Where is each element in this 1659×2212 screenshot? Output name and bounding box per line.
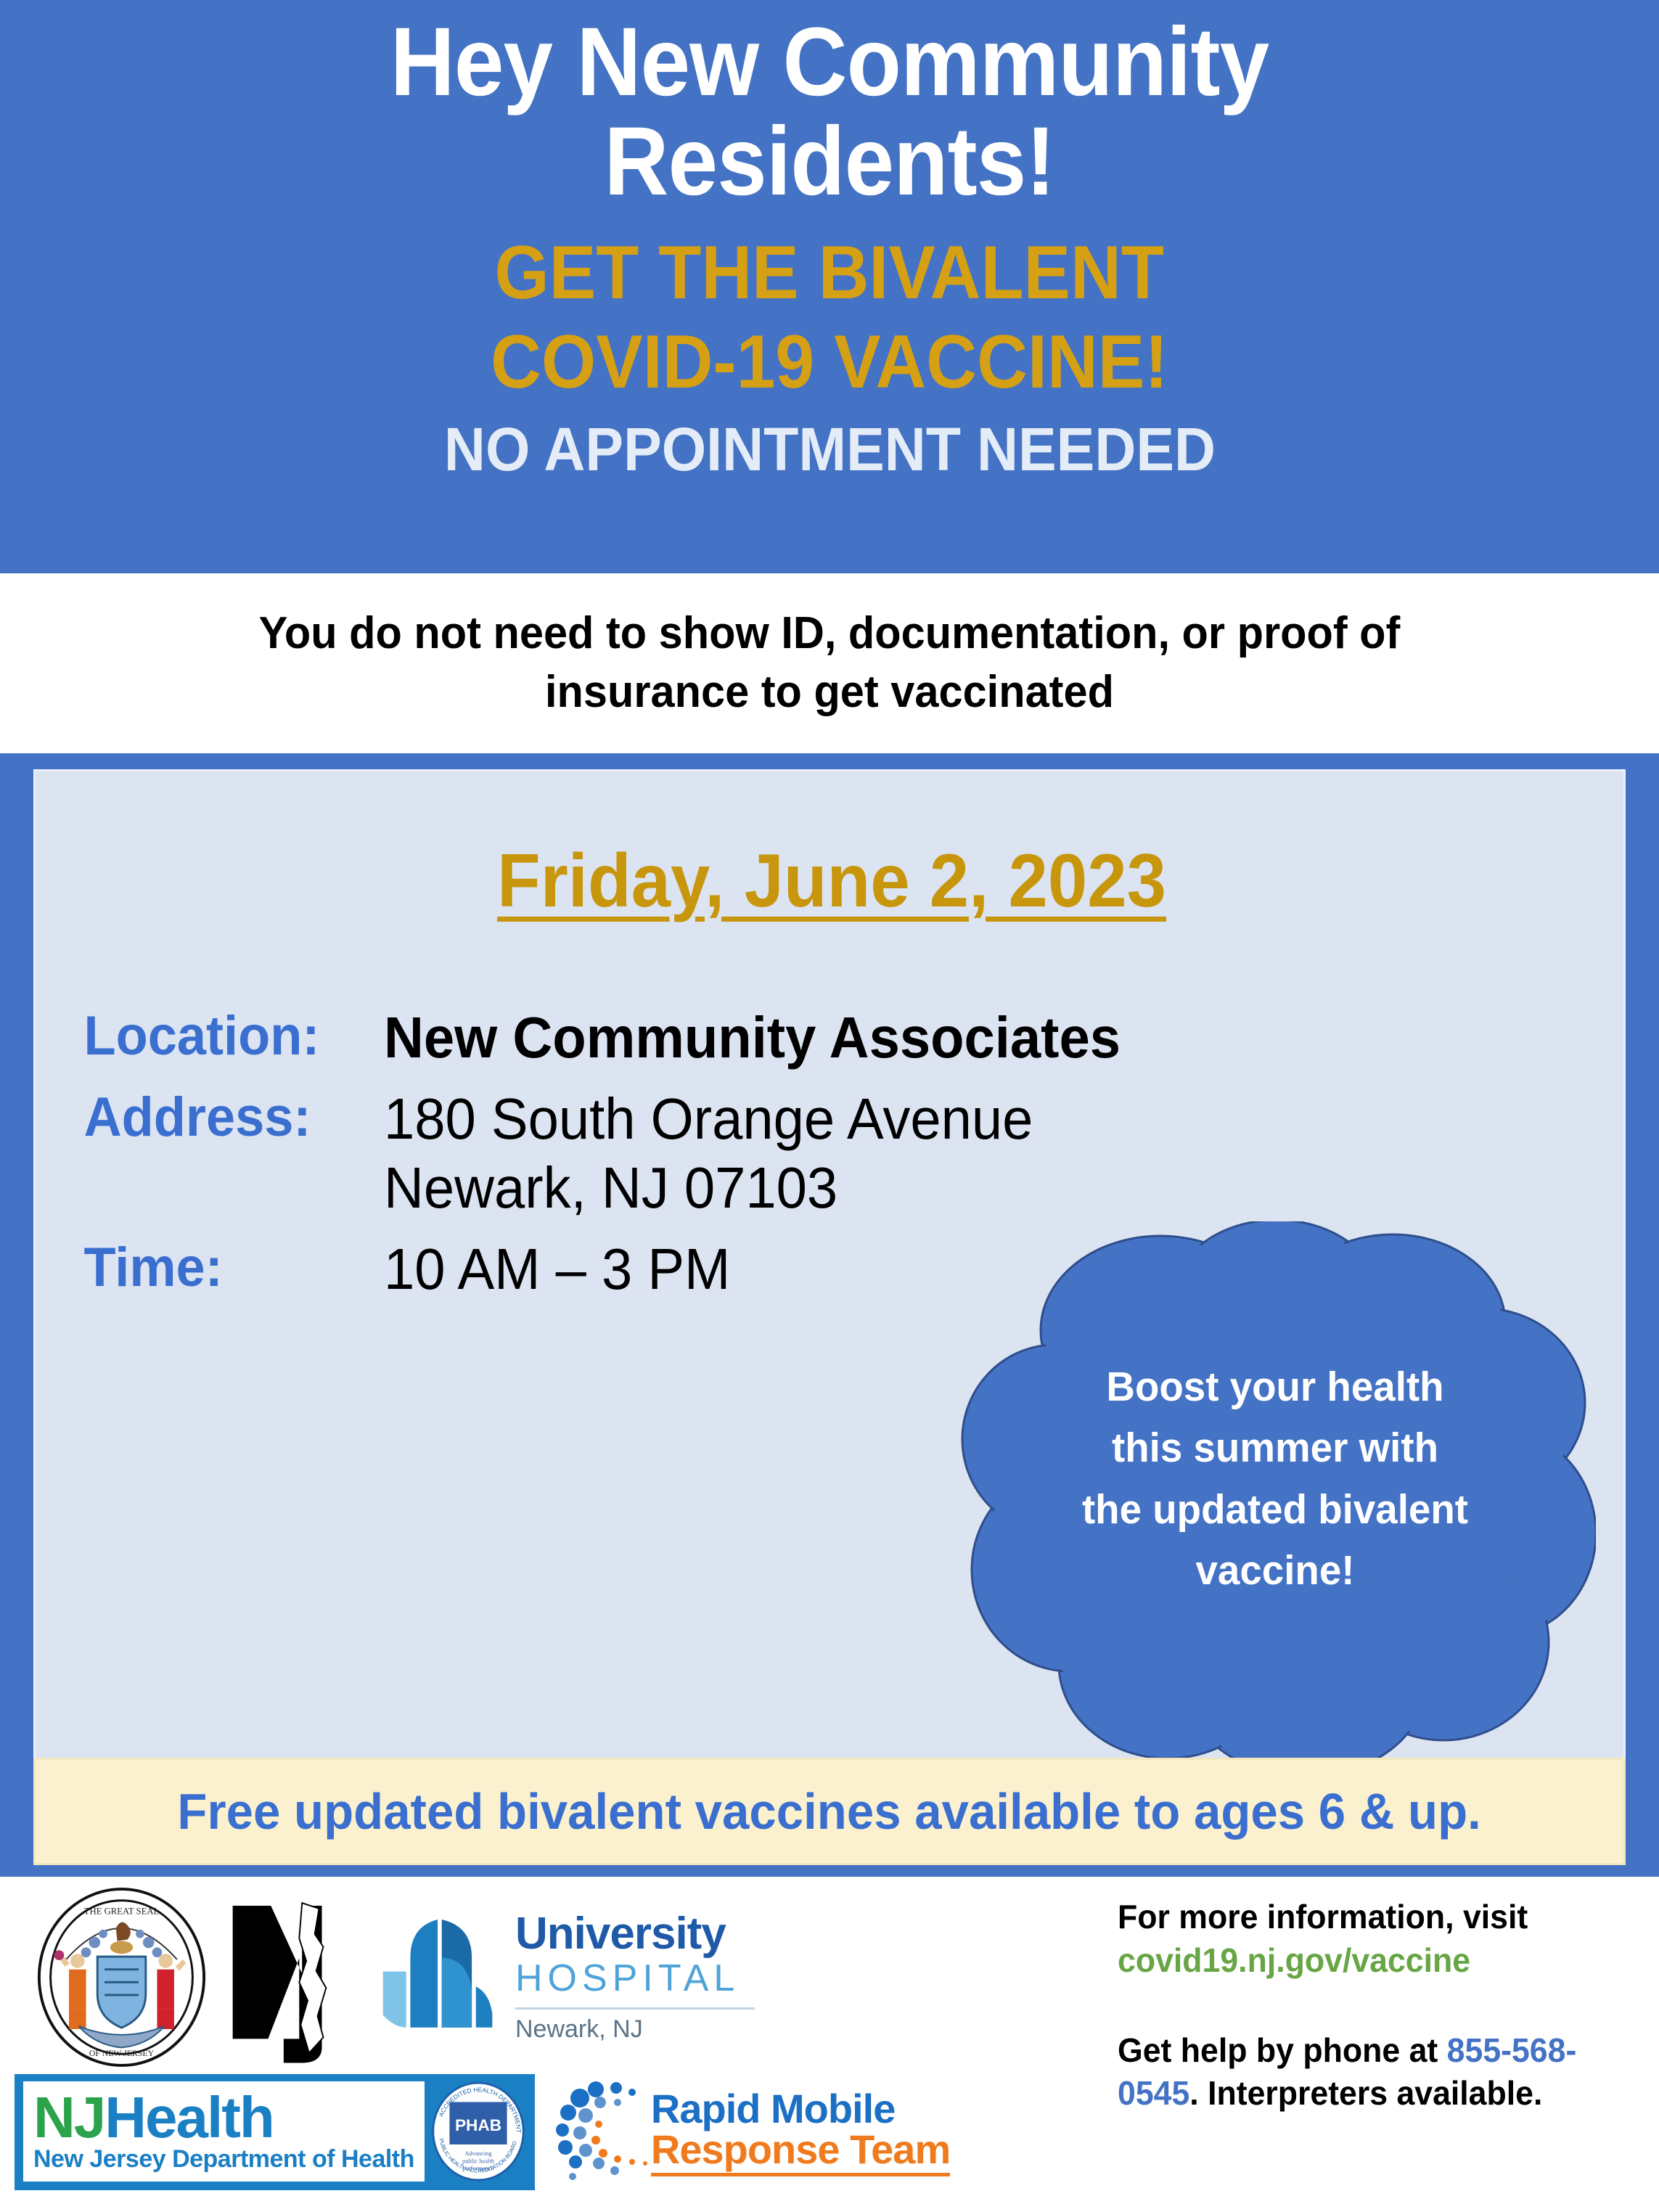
nj-health-logo: NJHealth New Jersey Department of Health… [15, 2074, 535, 2190]
uh-type: HOSPITAL [515, 1957, 755, 2001]
footer: THE GREAT SEAL OF NEW JERSEY [0, 1877, 1659, 2212]
event-date: Friday, June 2, 2023 [83, 838, 1580, 925]
contact-website-block: For more information, visit covid19.nj.g… [1118, 1896, 1626, 1983]
university-hospital-wordmark: University HOSPITAL Newark, NJ [515, 1912, 755, 2043]
subhead-gold-line-2: COVID-19 VACCINE! [491, 318, 1168, 407]
university-hospital-logo: University HOSPITAL Newark, NJ [380, 1912, 755, 2043]
detail-value-time: 10 AM – 3 PM [384, 1235, 730, 1303]
svg-text:OF NEW JERSEY: OF NEW JERSEY [89, 2049, 155, 2058]
contact-website-url[interactable]: covid19.nj.gov/vaccine [1118, 1939, 1610, 1983]
notice-text: You do not need to show ID, documentatio… [168, 605, 1491, 721]
svg-text:public health: public health [462, 2157, 495, 2164]
contact-phone-suffix: . Interpreters available. [1189, 2074, 1542, 2112]
contact-info: For more information, visit covid19.nj.g… [1118, 1896, 1626, 2162]
nj-health-wordmark-box: NJHealth New Jersey Department of Health [23, 2081, 425, 2182]
subhead-gold-line-1: GET THE BIVALENT [491, 229, 1168, 318]
notice-banner: You do not need to show ID, documentatio… [0, 573, 1659, 753]
detail-row-address: Address: 180 South Orange Avenue Newark,… [36, 1085, 1628, 1222]
detail-row-location: Location: New Community Associates [36, 1004, 1628, 1072]
detail-value-address: 180 South Orange Avenue Newark, NJ 07103 [384, 1085, 1033, 1222]
nj-state-seal-icon: THE GREAT SEAL OF NEW JERSEY [36, 1887, 207, 2068]
rmrt-line-2: Response Team [651, 2129, 950, 2176]
nj-health-subtitle: New Jersey Department of Health [33, 2145, 414, 2174]
header-subhead-white: NO APPOINTMENT NEEDED [443, 417, 1215, 481]
detail-label-location: Location: [36, 1004, 366, 1069]
header-subhead-gold: GET THE BIVALENT COVID-19 VACCINE! [491, 229, 1168, 406]
contact-phone-prefix: Get help by phone at [1118, 2031, 1447, 2069]
university-hospital-mark-icon [380, 1912, 496, 2043]
rmrt-dot-swirl-icon [554, 2078, 663, 2187]
detail-value-location: New Community Associates [384, 1004, 1121, 1072]
logo-row-primary: THE GREAT SEAL OF NEW JERSEY [36, 1887, 755, 2068]
nj-health-nj: NJ [33, 2085, 105, 2150]
nj-health-wordmark: NJHealth [33, 2090, 414, 2145]
uh-city: Newark, NJ [515, 2015, 755, 2044]
svg-text:THE GREAT SEAL: THE GREAT SEAL [84, 1906, 160, 1916]
header-banner: Hey New Community Residents! GET THE BIV… [0, 0, 1659, 573]
contact-phone-block: Get help by phone at 855-568-0545. Inter… [1118, 2029, 1626, 2116]
rapid-mobile-response-team-logo: Rapid Mobile Response Team [554, 2078, 950, 2187]
logo-row-secondary: NJHealth New Jersey Department of Health… [15, 2074, 950, 2190]
nj-monogram-icon [223, 1893, 364, 2063]
phab-accreditation-seal-icon: PHAB Advancing public health performance… [430, 2081, 526, 2182]
cloud-callout-text: Boost your health this summer with the u… [1080, 1356, 1470, 1601]
nj-health-health: Health [105, 2085, 274, 2150]
contact-phone-line: Get help by phone at 855-568-0545. Inter… [1118, 2029, 1610, 2116]
logo-area: THE GREAT SEAL OF NEW JERSEY [15, 1877, 987, 2212]
event-details-panel: Friday, June 2, 2023 Location: New Commu… [33, 769, 1626, 1782]
cloud-callout: Boost your health this summer with the u… [943, 1221, 1596, 1773]
svg-text:PHAB: PHAB [455, 2116, 501, 2134]
uh-divider [515, 2007, 755, 2010]
contact-website-prefix: For more information, visit [1118, 1896, 1610, 1939]
rmrt-line-1: Rapid Mobile [651, 2089, 950, 2129]
eligibility-text: Free updated bivalent vaccines available… [178, 1782, 1481, 1840]
detail-label-time: Time: [36, 1235, 366, 1300]
eligibility-banner: Free updated bivalent vaccines available… [33, 1758, 1626, 1865]
svg-text:Advancing: Advancing [464, 2150, 492, 2157]
event-details-section: Friday, June 2, 2023 Location: New Commu… [0, 753, 1659, 1877]
detail-label-address: Address: [36, 1085, 366, 1150]
uh-name: University [515, 1912, 755, 1957]
page-title: Hey New Community Residents! [308, 13, 1350, 211]
rmrt-wordmark: Rapid Mobile Response Team [651, 2089, 950, 2176]
